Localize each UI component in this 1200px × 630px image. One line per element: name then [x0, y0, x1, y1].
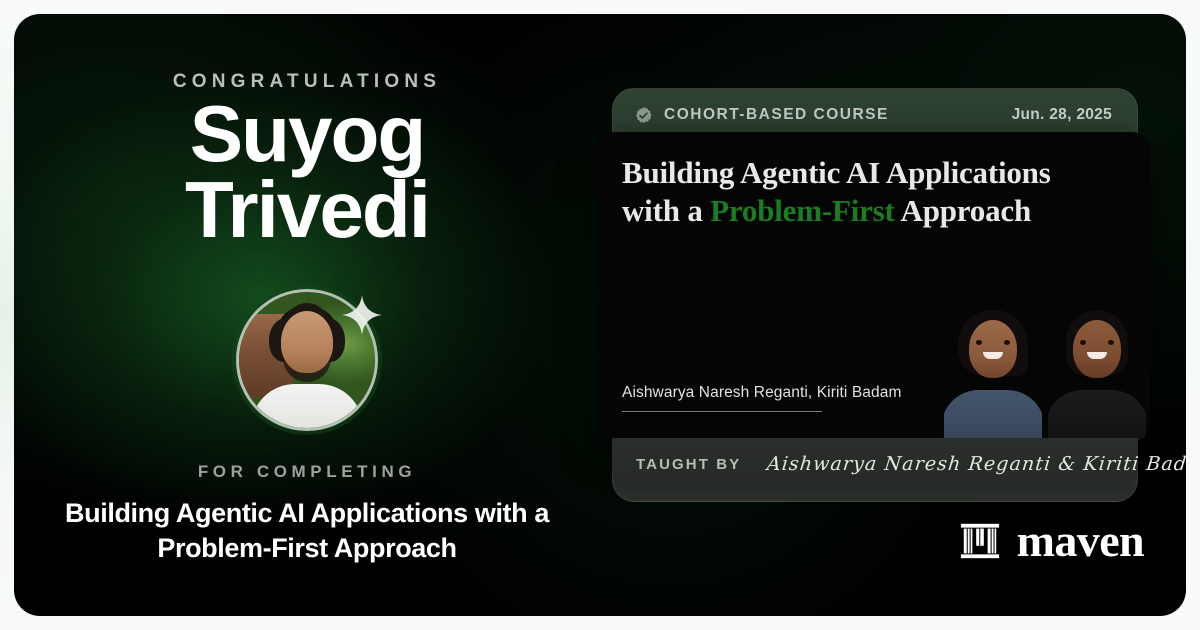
course-title-part-2: Approach [895, 193, 1031, 228]
preview-body: Building Agentic AI Applications with a … [598, 132, 1150, 442]
recipient-first-name: Suyog [14, 96, 600, 172]
avatar-ring [236, 289, 378, 431]
avatar [236, 289, 378, 431]
recipient-panel: CONGRATULATIONS Suyog Trivedi [14, 14, 600, 616]
course-authors: Aishwarya Naresh Reganti, Kiriti Badam [622, 384, 901, 402]
course-date: Jun. 28, 2025 [1012, 106, 1112, 124]
avatar-photo [239, 292, 375, 428]
avatar-shirt [251, 384, 363, 428]
instructor-signature: Aishwarya Naresh Reganti & Kiriti Badam [766, 453, 1186, 475]
authors-underline [622, 411, 822, 412]
avatar-hair [277, 307, 337, 339]
certificate-page: CONGRATULATIONS Suyog Trivedi [0, 0, 1200, 630]
instructor-portrait-2 [1048, 300, 1146, 442]
glasses-icon [282, 334, 332, 347]
certificate-card: CONGRATULATIONS Suyog Trivedi [14, 14, 1186, 616]
for-completing-label: FOR COMPLETING [14, 462, 600, 482]
course-preview-card[interactable]: COHORT-BASED COURSE Jun. 28, 2025 Buildi… [598, 74, 1154, 504]
taught-by-bar: TAUGHT BY Aishwarya Naresh Reganti & Kir… [612, 438, 1138, 490]
maven-wordmark: maven [1017, 518, 1144, 564]
recipient-last-name: Trivedi [14, 172, 600, 248]
avatar-beard [283, 350, 331, 382]
cohort-badge: COHORT-BASED COURSE [634, 106, 889, 125]
verified-check-badge-icon [634, 106, 653, 125]
course-title: Building Agentic AI Applications with a … [622, 154, 1074, 230]
taught-by-label: TAUGHT BY [636, 456, 741, 473]
cohort-badge-label: COHORT-BASED COURSE [664, 106, 889, 124]
course-title-highlight: Problem-First [710, 193, 895, 228]
instructor-portrait-1 [944, 300, 1042, 442]
instructor-photos [936, 294, 1150, 442]
maven-logo[interactable]: maven [959, 518, 1144, 564]
completed-course-title: Building Agentic AI Applications with a … [14, 496, 600, 565]
maven-pillars-logo-icon [959, 520, 1001, 562]
recipient-name: Suyog Trivedi [14, 96, 600, 248]
